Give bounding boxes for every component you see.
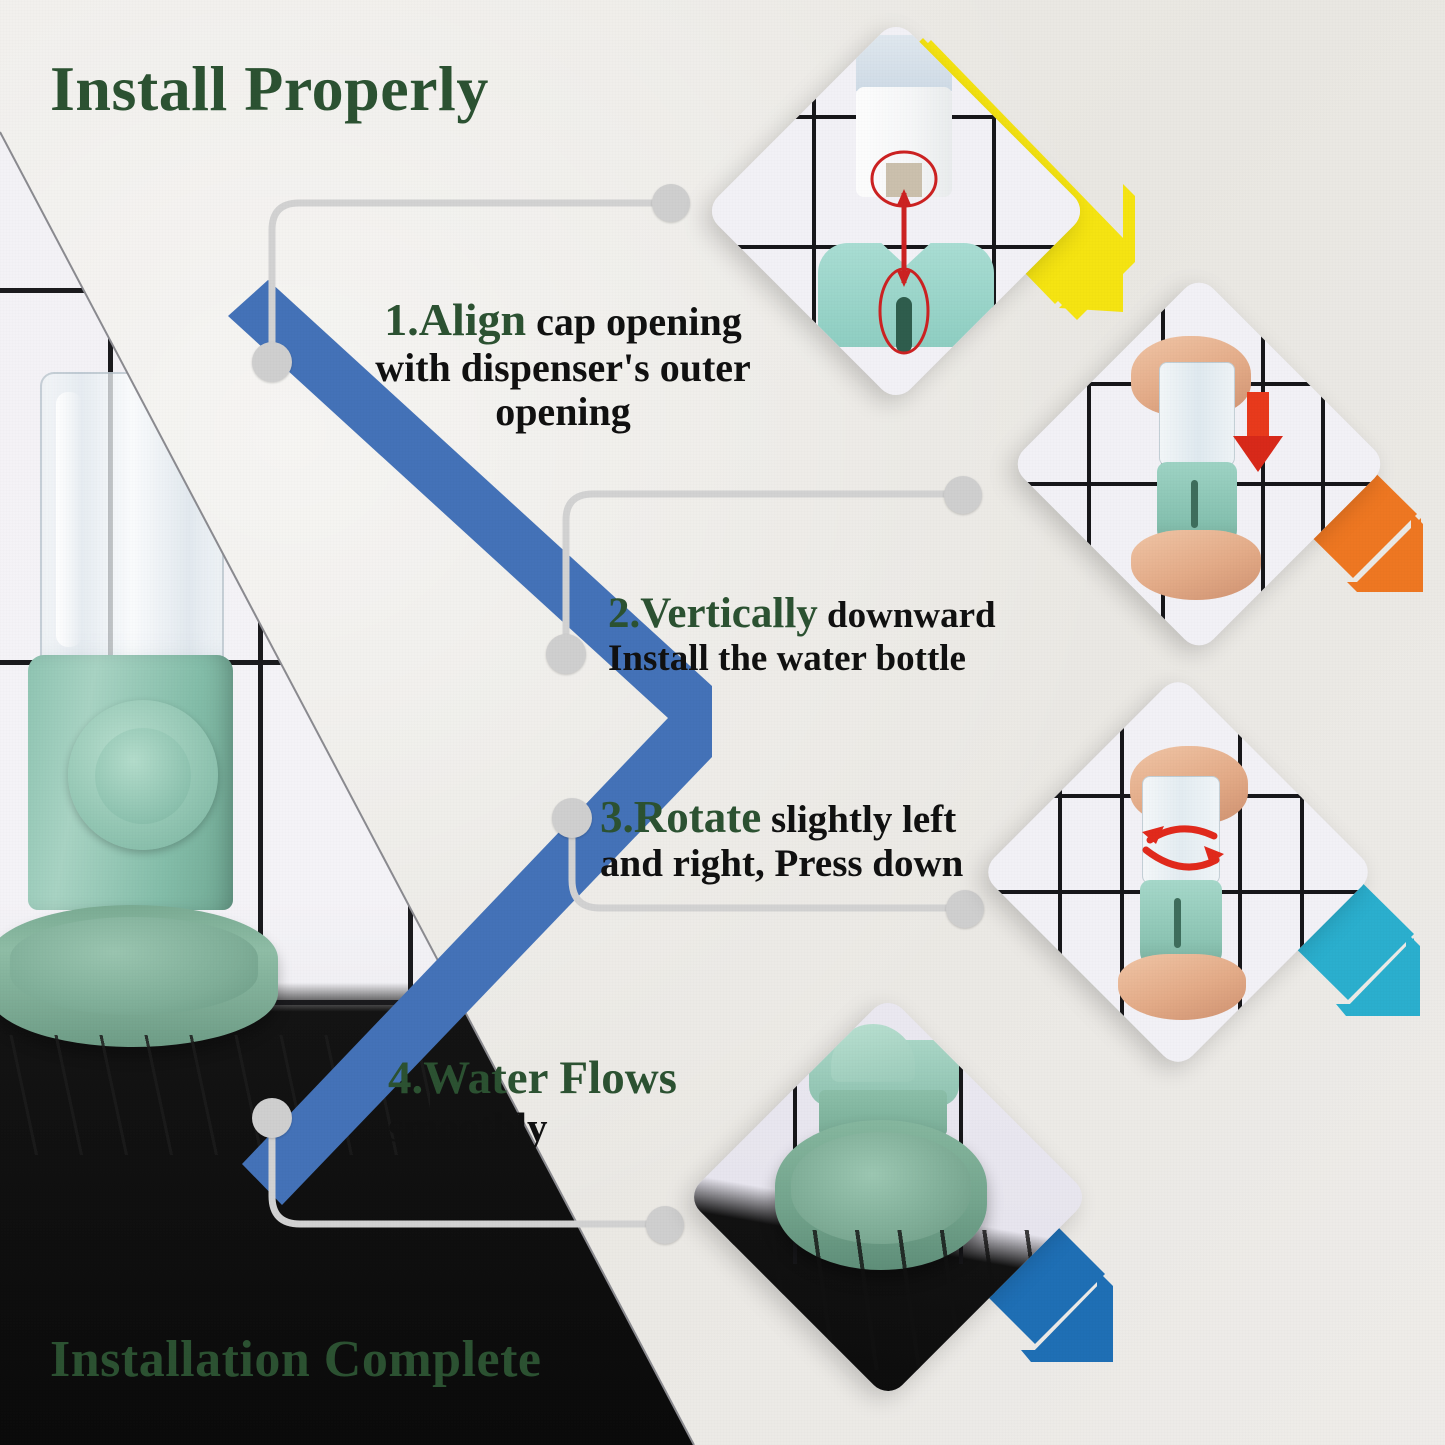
panel-4-bowl-water: [791, 1132, 971, 1244]
page-title: Install Properly: [50, 52, 489, 126]
connector-dot-step-3-start: [552, 798, 592, 838]
hero-dispenser-knob-cap: [95, 728, 191, 824]
cage-wire-vertical: [258, 150, 263, 1010]
connector-dot-step-1-end: [652, 184, 690, 222]
connector-dot-step-2-start: [546, 634, 586, 674]
hero-water-bottle: [40, 372, 224, 681]
panel-1-annotations: [760, 75, 1050, 375]
cage-wire-horizontal: [0, 288, 760, 293]
connector-dot-step-3-end: [946, 890, 984, 928]
step-2-rest-line1: downward: [818, 595, 996, 636]
cage-wire-vertical: [408, 150, 413, 1010]
step-2-rest-line2: Install the water bottle: [608, 638, 966, 679]
hero-cage-floor-rack: [0, 1035, 430, 1155]
panel-2-annotations: [1065, 330, 1355, 620]
connector-dot-step-4-end: [646, 1206, 684, 1244]
step-3-caption: 3.Rotate slightly left and right, Press …: [600, 792, 1060, 886]
step-4-rest-line2: smoothly: [388, 1104, 547, 1150]
step-1-rest-line2: with dispenser's outer: [375, 345, 751, 390]
connector-dot-step-4-start: [252, 1098, 292, 1138]
step-3-highlight: 3.Rotate: [600, 792, 761, 842]
step-4-caption: 4.Water Flows smoothly: [388, 1052, 788, 1151]
step-2-caption: 2.Vertically downward Install the water …: [608, 590, 1098, 680]
step-3-rest-line1: slightly left: [761, 798, 956, 841]
panel-4-cage-floor: [705, 1230, 1085, 1370]
step-1-rest-line3: opening: [495, 389, 631, 434]
step-3-rest-line2: and right, Press down: [600, 842, 963, 885]
hero-water-bowl-interior: [10, 917, 258, 1015]
infographic-canvas: Install Properly 1.Align cap opening wit…: [0, 0, 1445, 1445]
panel-3-annotations: [1038, 732, 1338, 1032]
step-1-caption: 1.Align cap opening with dispenser's out…: [348, 294, 778, 435]
step-2-highlight: 2.Vertically: [608, 590, 818, 637]
step-4-highlight: 4.Water Flows: [388, 1052, 677, 1104]
connector-dot-step-2-end: [944, 476, 982, 514]
cage-wire-vertical: [556, 160, 561, 1010]
footer-caption: Installation Complete: [50, 1330, 542, 1389]
step-1-rest-line1: cap opening: [526, 299, 742, 344]
step-1-highlight: 1.Align: [384, 294, 526, 345]
connector-dot-step-1-start: [252, 342, 292, 382]
